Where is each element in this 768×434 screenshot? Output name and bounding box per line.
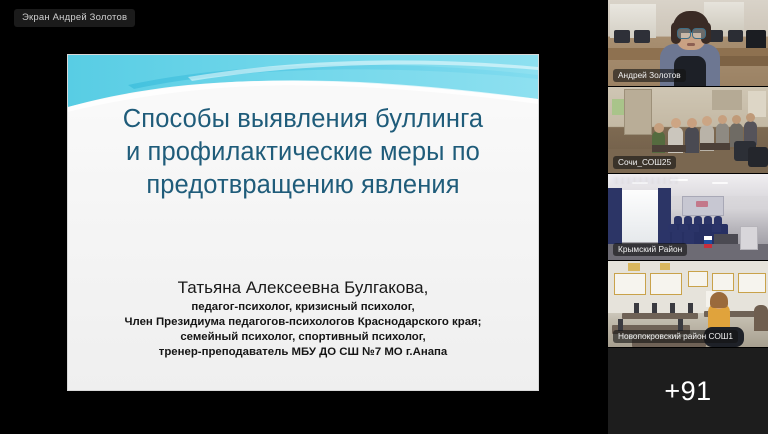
author-credential-line-3: семейный психолог, спортивный психолог, — [82, 330, 524, 345]
author-credential-line-4: тренер-преподаватель МБУ ДО СШ №7 МО г.А… — [82, 345, 524, 360]
participant-rail[interactable]: Андрей Золотов — [608, 0, 768, 434]
presentation-slide: Способы выявления буллинга и профилактич… — [68, 55, 538, 390]
participant-tile[interactable]: Крымский Район — [608, 174, 768, 261]
author-name: Татьяна Алексеевна Булгакова, — [82, 277, 524, 298]
shared-screen-stage[interactable]: Экран Андрей Золотов — [0, 0, 608, 434]
slide-title: Способы выявления буллинга и профилактич… — [86, 103, 520, 202]
camera-timestamp-overlay — [612, 177, 678, 184]
overflow-count-label: +91 — [664, 376, 711, 407]
video-conference-screen: Экран Андрей Золотов — [0, 0, 768, 434]
screen-share-banner: Экран Андрей Золотов — [14, 9, 135, 27]
author-credential-line-2: Член Президиума педагогов-психологов Кра… — [82, 315, 524, 330]
participant-overflow-tile[interactable]: +91 — [608, 348, 768, 434]
participant-name-label: Новопокровский район СОШ1 — [613, 330, 738, 343]
slide-title-line-1: Способы выявления буллинга — [86, 103, 520, 136]
participant-tile[interactable]: Сочи_СОШ25 — [608, 87, 768, 174]
participant-tile[interactable]: Новопокровский район СОШ1 — [608, 261, 768, 348]
participant-name-label: Крымский Район — [613, 243, 687, 256]
slide-author-block: Татьяна Алексеевна Булгакова, педагог-пс… — [82, 277, 524, 360]
participant-name-label: Андрей Золотов — [613, 69, 686, 82]
author-credential-line-1: педагог-психолог, кризисный психолог, — [82, 300, 524, 315]
participant-name-label: Сочи_СОШ25 — [613, 156, 676, 169]
slide-title-line-3: предотвращению явления — [86, 169, 520, 202]
slide-title-line-2: и профилактические меры по — [86, 136, 520, 169]
participant-tile[interactable]: Андрей Золотов — [608, 0, 768, 87]
